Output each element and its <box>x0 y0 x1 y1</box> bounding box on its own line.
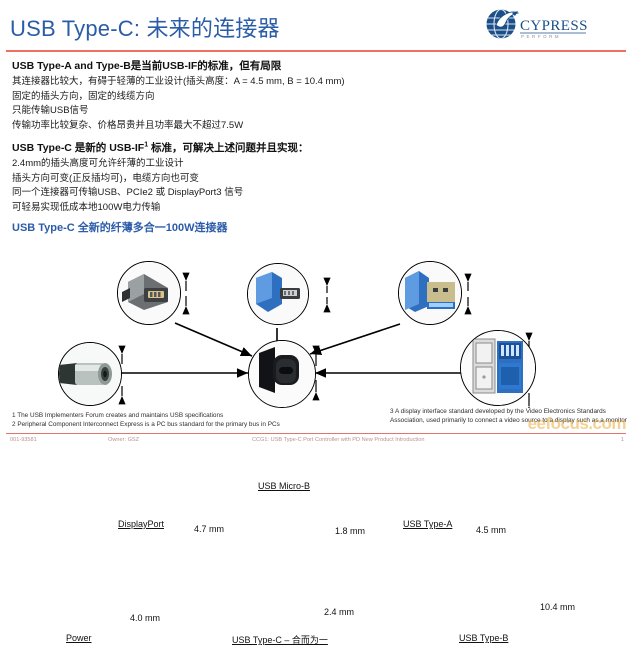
footnote-3a: 3 A display interface standard developed… <box>390 408 630 417</box>
dimension-usb-type-c: 2.4 mm <box>324 607 354 617</box>
dimension-displayport: 4.7 mm <box>194 524 224 534</box>
block-c-heading: USB Type-C 是新的 USB-IF1 标准，可解决上述问题并且实现： <box>12 140 492 155</box>
block-ab-line-4: 传输功率比较复杂、价格昂贵并且功率最大不超过7.5W <box>12 119 492 134</box>
arrow-typea-to-typec <box>310 324 400 354</box>
block-c-line-2: 插头方向可变(正反插均可)，电缆方向也可变 <box>12 172 492 187</box>
logo-wordmark: CYPRESS <box>520 18 588 34</box>
title-divider <box>6 50 626 52</box>
label-displayport: DisplayPort <box>118 519 164 529</box>
block-ab-line-3: 只能传输USB信号 <box>12 104 492 119</box>
type-a-connector-image <box>399 262 461 324</box>
label-usb-type-c: USB Type-C – 合而为一 <box>232 633 328 646</box>
power-connector-image <box>59 343 121 405</box>
footnote-3b: Association, used primarily to connect a… <box>390 417 630 426</box>
node-displayport[interactable] <box>117 261 181 325</box>
slide-header: USB Type-C: 未来的连接器 CYPRESS PERFORM <box>0 0 632 52</box>
label-usb-micro-b: USB Micro-B <box>258 481 310 491</box>
footnote-1: 1 The USB Implementers Forum creates and… <box>12 412 280 421</box>
block-ab-line-1: 其连接器比较大，有碍于轻薄的工业设计(插头高度：A = 4.5 mm, B = … <box>12 75 492 90</box>
logo-tagline: PERFORM <box>521 34 561 39</box>
block-c-line-4: 可轻易实现低成本地100W电力传输 <box>12 201 492 216</box>
dimension-power: 4.0 mm <box>130 613 160 623</box>
page-title: USB Type-C: 未来的连接器 <box>10 11 280 43</box>
label-usb-type-a: USB Type-A <box>403 519 452 529</box>
arrow-displayport-to-typec <box>175 323 252 356</box>
footer-document-id: 001-93581 <box>10 437 37 443</box>
node-usb-micro-b[interactable] <box>247 263 309 325</box>
micro-b-connector-image <box>248 264 308 324</box>
label-usb-type-b: USB Type-B <box>459 633 508 643</box>
footer-page-number: 1 <box>621 437 624 443</box>
block-c-line-1: 2.4mm的插头高度可允许纤薄的工业设计 <box>12 157 492 172</box>
type-b-connector-image <box>461 331 535 405</box>
footnote-2: 2 Peripheral Component Interconnect Expr… <box>12 421 280 430</box>
footnotes-left: 1 The USB Implementers Forum creates and… <box>12 412 280 429</box>
block-c-heading-pre: USB Type-C 是新的 USB-IF <box>12 142 144 154</box>
node-usb-type-b[interactable] <box>460 330 536 406</box>
text-block-type-ab: USB Type-A and Type-B是当前USB-IF的标准，但有局限 其… <box>12 58 492 133</box>
node-power[interactable] <box>58 342 122 406</box>
cypress-logo-svg: CYPRESS PERFORM <box>482 8 590 44</box>
label-power: Power <box>66 633 92 643</box>
footer-divider <box>6 433 626 434</box>
dimension-usb-type-b: 10.4 mm <box>540 602 575 612</box>
type-c-connector-image <box>249 341 315 407</box>
block-c-heading-post: 标准，可解决上述问题并且实现： <box>148 142 308 154</box>
footer-owner: Owner: GSZ <box>108 437 139 443</box>
cypress-logo: CYPRESS PERFORM <box>482 8 590 44</box>
block-c-line-3: 同一个连接器可传输USB、PCIe2 或 DisplayPort3 信号 <box>12 186 492 201</box>
connector-diagram: DisplayPort 4.7 mm USB Micro-B 1.8 mm <box>0 236 632 408</box>
text-block-type-c: USB Type-C 是新的 USB-IF1 标准，可解决上述问题并且实现： 2… <box>12 140 492 215</box>
node-usb-type-a[interactable] <box>398 261 462 325</box>
block-ab-heading: USB Type-A and Type-B是当前USB-IF的标准，但有局限 <box>12 58 492 73</box>
dimension-usb-type-a: 4.5 mm <box>476 525 506 535</box>
node-usb-type-c[interactable] <box>248 340 316 408</box>
section-heading: USB Type-C 全新的纤薄多合一100W连接器 <box>12 219 228 235</box>
block-ab-line-2: 固定的插头方向，固定的线缆方向 <box>12 90 492 105</box>
slide-canvas: USB Type-C: 未来的连接器 CYPRESS PERFORM <box>0 0 632 447</box>
dimension-usb-micro-b: 1.8 mm <box>335 526 365 536</box>
displayport-connector-image <box>118 262 180 324</box>
footer-project-title: CCG1: USB Type-C Port Controller with PD… <box>252 437 424 443</box>
footnotes-right: 3 A display interface standard developed… <box>390 408 630 425</box>
